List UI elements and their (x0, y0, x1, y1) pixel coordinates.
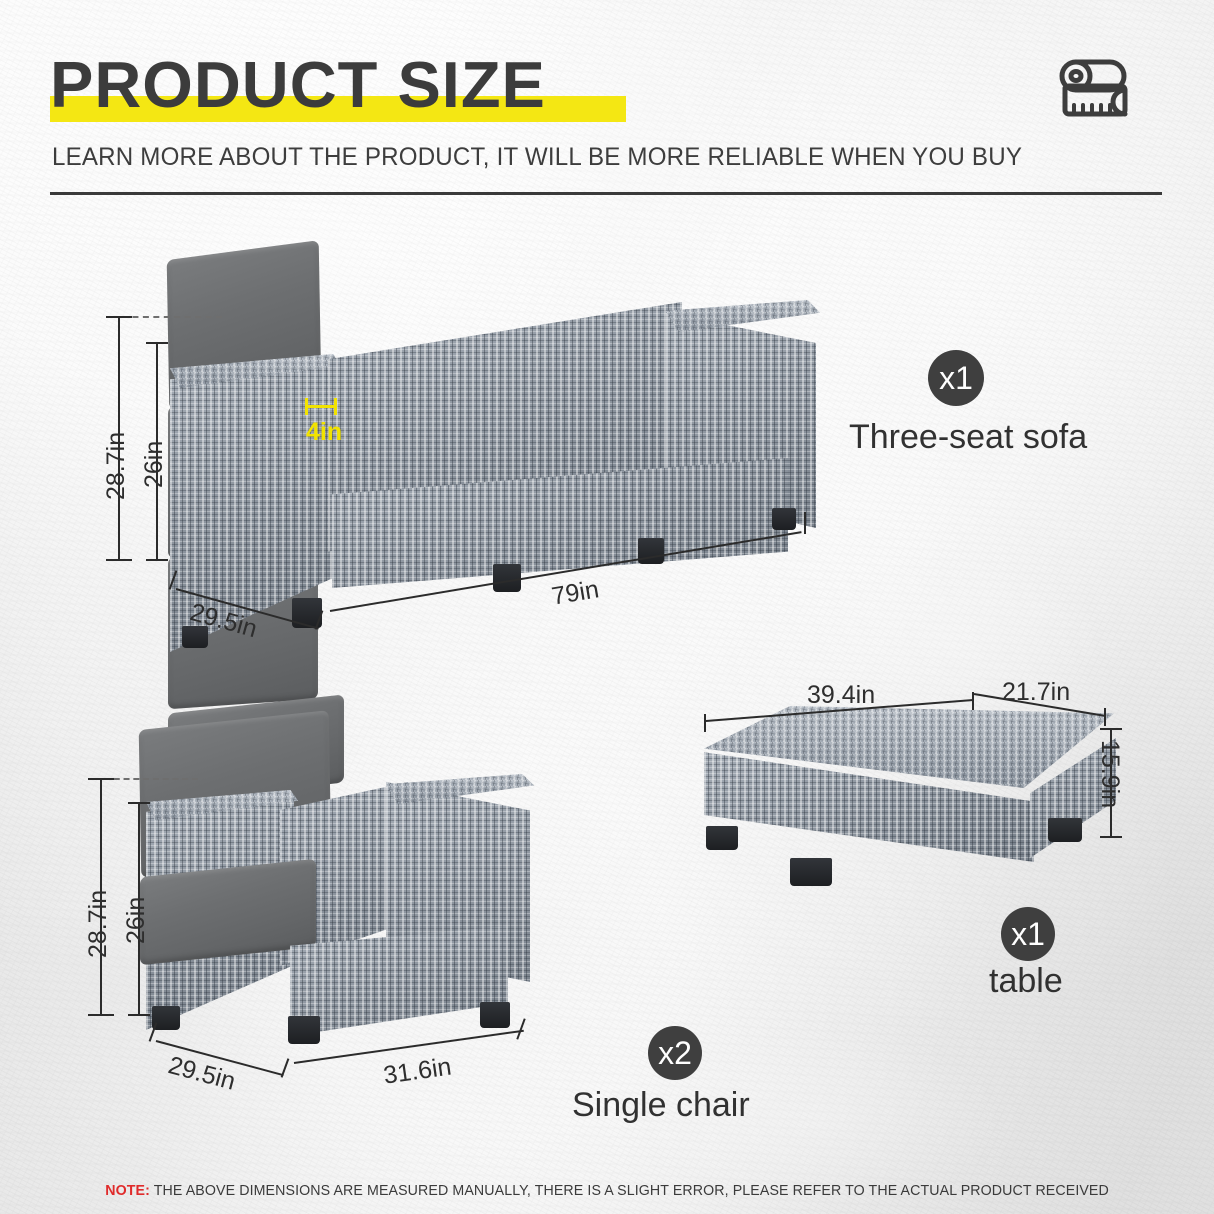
chair-seat-height-label: 26in (124, 897, 149, 944)
page-subtitle: LEARN MORE ABOUT THE PRODUCT, IT WILL BE… (52, 143, 1022, 171)
chair-seat-height-tick-top (128, 802, 150, 804)
table-length-label: 39.4in (807, 683, 875, 708)
chair-qty-badge: x2 (648, 1026, 702, 1080)
sofa-height-guide-top (122, 316, 222, 318)
table-length-tick-left (704, 714, 706, 732)
chair-name-label: Single chair (572, 1086, 750, 1124)
table-leg (1048, 818, 1082, 842)
chair-illustration (140, 720, 540, 1050)
chair-leg (288, 1016, 320, 1044)
table-height-tick-top (1100, 728, 1122, 730)
infographic-page: PRODUCT SIZE LEARN MORE ABOUT THE PRODUC… (0, 0, 1214, 1214)
note-text: THE ABOVE DIMENSIONS ARE MEASURED MANUAL… (154, 1183, 1109, 1199)
sofa-cushion-thickness-tick-right (334, 398, 337, 415)
sofa-seat-height-tick-bottom (146, 559, 168, 561)
table-height-tick-bottom (1100, 836, 1122, 838)
chair-seat-cushion (140, 859, 316, 965)
sofa-illustration (168, 250, 828, 630)
sofa-height-tick-bottom (106, 559, 132, 561)
header: PRODUCT SIZE LEARN MORE ABOUT THE PRODUC… (0, 0, 1214, 210)
table-width-label: 21.7in (1002, 680, 1070, 705)
footer: NOTE: THE ABOVE DIMENSIONS ARE MEASURED … (0, 1182, 1214, 1200)
chair-height-tick-top (88, 778, 114, 780)
table-height-label: 15.9in (1097, 740, 1122, 808)
chair-height-guide-top (104, 778, 198, 780)
table-qty-badge: x1 (1001, 907, 1055, 961)
tape-measure-icon (1056, 58, 1130, 120)
footer-note: NOTE: THE ABOVE DIMENSIONS ARE MEASURED … (105, 1182, 1109, 1200)
chair-leg (152, 1006, 180, 1030)
table-leg (706, 826, 738, 850)
sofa-leg (638, 538, 664, 564)
table-width-tick-right (1104, 708, 1106, 726)
sofa-qty-badge: x1 (928, 350, 984, 406)
sofa-seat-height-tick-top (146, 342, 168, 344)
table-leg (790, 858, 832, 886)
sofa-cushion-thickness-line (305, 405, 337, 408)
chair-height-tick-bottom (88, 1014, 114, 1016)
sofa-width-tick-right (804, 512, 806, 534)
sofa-height-tick-top (106, 316, 132, 318)
chair-seat-height-tick-bottom (128, 1014, 150, 1016)
chair-overall-height-label: 28.7in (86, 890, 111, 958)
header-divider (50, 192, 1162, 195)
page-title: PRODUCT SIZE (50, 52, 546, 118)
sofa-name-label: Three-seat sofa (849, 418, 1087, 456)
sofa-right-arm-top (666, 300, 820, 332)
sofa-leg (772, 508, 796, 530)
sofa-seat-height-label: 26in (142, 441, 167, 488)
table-name-label: table (989, 962, 1063, 1000)
sofa-overall-height-label: 28.7in (104, 432, 129, 500)
note-label: NOTE: (105, 1183, 150, 1199)
sofa-cushion-thickness-label: 4in (306, 420, 342, 445)
title-block: PRODUCT SIZE (50, 52, 546, 124)
table-illustration (700, 700, 1120, 900)
chair-leg (480, 1002, 510, 1028)
sofa-cushion-thickness-tick-left (305, 398, 308, 415)
